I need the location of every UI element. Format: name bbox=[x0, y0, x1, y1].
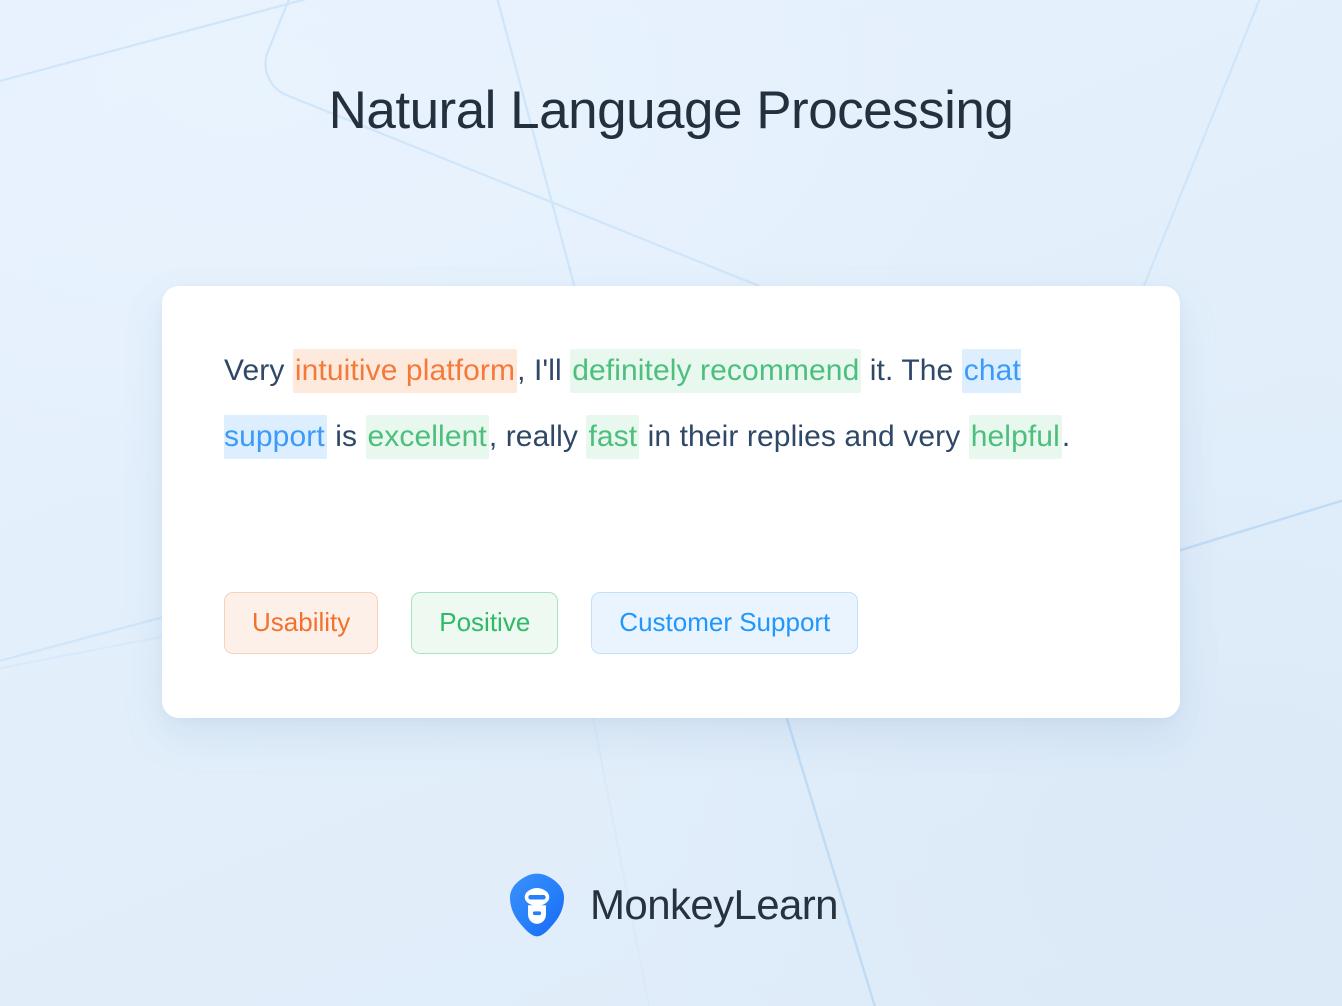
monkeylearn-monkey-face-icon bbox=[504, 872, 570, 938]
highlight-intuitive-platform: intuitive platform bbox=[293, 349, 517, 393]
page-title: Natural Language Processing bbox=[0, 82, 1342, 140]
footer-logo: MonkeyLearn bbox=[0, 872, 1342, 938]
review-segment-plain: , really bbox=[489, 420, 587, 453]
tag-positive[interactable]: Positive bbox=[411, 592, 558, 654]
highlight-helpful: helpful bbox=[969, 415, 1062, 459]
review-segment-plain: , I'll bbox=[517, 354, 570, 387]
highlight-definitely-recommend: definitely recommend bbox=[570, 349, 861, 393]
review-segment-plain: is bbox=[327, 420, 366, 453]
highlight-fast: fast bbox=[586, 415, 639, 459]
review-segment-plain: The bbox=[893, 354, 961, 387]
review-segment-plain: Very bbox=[224, 354, 293, 387]
review-segment-plain: in their replies and very bbox=[639, 420, 969, 453]
review-segment-plain: it. bbox=[861, 354, 893, 387]
review-text: Very intuitive platform, I'll definitely… bbox=[224, 338, 1130, 470]
tag-usability[interactable]: Usability bbox=[224, 592, 378, 654]
brand-wordmark: MonkeyLearn bbox=[590, 884, 838, 926]
tag-list: Usability Positive Customer Support bbox=[224, 592, 858, 654]
highlight-excellent: excellent bbox=[366, 415, 489, 459]
page-root: Natural Language Processing Very intuiti… bbox=[0, 0, 1342, 1006]
review-segment-plain: . bbox=[1062, 420, 1070, 453]
tag-customer-support[interactable]: Customer Support bbox=[591, 592, 858, 654]
analysis-card: Very intuitive platform, I'll definitely… bbox=[162, 286, 1180, 718]
